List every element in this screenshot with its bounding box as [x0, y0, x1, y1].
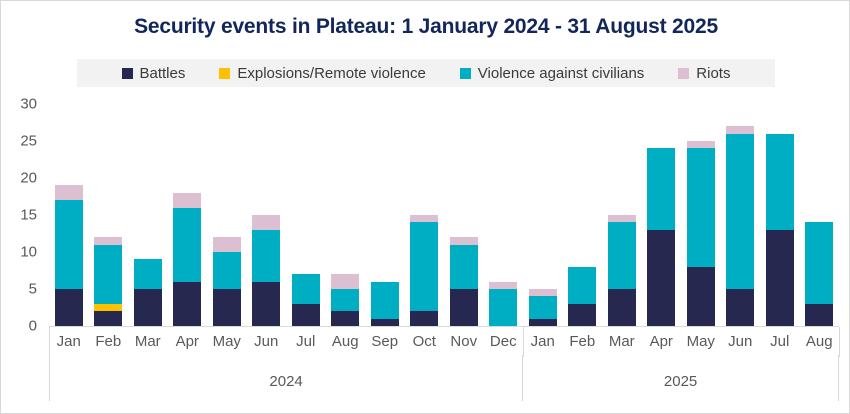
- bar-segment[interactable]: [94, 311, 122, 326]
- bar-segment[interactable]: [55, 200, 83, 289]
- bar-segment[interactable]: [608, 222, 636, 289]
- legend-item[interactable]: Riots: [678, 65, 730, 82]
- bar-segment[interactable]: [529, 289, 557, 296]
- bar-segment[interactable]: [331, 274, 359, 289]
- bar-segment[interactable]: [55, 289, 83, 326]
- bar-slot: [49, 104, 89, 326]
- legend-swatch-explosions: [219, 68, 230, 79]
- bar-segment[interactable]: [647, 148, 675, 229]
- bar-segment[interactable]: [331, 289, 359, 311]
- bar-segment[interactable]: [173, 282, 201, 326]
- x-axis-group-labels: 20242025: [49, 355, 839, 401]
- y-axis-tick-label: 10: [20, 244, 37, 261]
- bar-segment[interactable]: [726, 126, 754, 133]
- bar-segment[interactable]: [450, 237, 478, 244]
- stacked-bar[interactable]: [608, 215, 636, 326]
- bar-segment[interactable]: [450, 289, 478, 326]
- plot-area: [49, 104, 839, 326]
- bar-segment[interactable]: [805, 222, 833, 303]
- bar-segment[interactable]: [410, 311, 438, 326]
- stacked-bar[interactable]: [94, 237, 122, 326]
- bar-segment[interactable]: [410, 222, 438, 311]
- bar-segment[interactable]: [371, 282, 399, 319]
- stacked-bar[interactable]: [568, 267, 596, 326]
- stacked-bar[interactable]: [726, 126, 754, 326]
- stacked-bar[interactable]: [371, 282, 399, 326]
- bar-segment[interactable]: [766, 230, 794, 326]
- bar-segment[interactable]: [252, 282, 280, 326]
- stacked-bar[interactable]: [213, 237, 241, 326]
- bar-segment[interactable]: [94, 245, 122, 304]
- bar-segment[interactable]: [766, 134, 794, 230]
- stacked-bar[interactable]: [529, 289, 557, 326]
- bar-slot: [326, 104, 366, 326]
- bar-slot: [168, 104, 208, 326]
- chart-title: Security events in Plateau: 1 January 20…: [1, 15, 850, 39]
- bar-slot: [484, 104, 524, 326]
- bar-segment[interactable]: [55, 185, 83, 200]
- stacked-bar[interactable]: [134, 259, 162, 326]
- bar-segment[interactable]: [687, 141, 715, 148]
- bar-segment[interactable]: [173, 193, 201, 208]
- group-separator-tick: [839, 327, 840, 357]
- bar-segment[interactable]: [292, 304, 320, 326]
- y-axis-tick-label: 25: [20, 133, 37, 150]
- bar-segment[interactable]: [647, 230, 675, 326]
- bar-segment[interactable]: [173, 208, 201, 282]
- bar-segment[interactable]: [410, 215, 438, 222]
- bar-segment[interactable]: [134, 259, 162, 289]
- stacked-bar[interactable]: [687, 141, 715, 326]
- bar-segment[interactable]: [805, 304, 833, 326]
- y-axis-tick-label: 30: [20, 96, 37, 113]
- y-axis-tick-label: 5: [29, 281, 37, 298]
- bar-segment[interactable]: [252, 215, 280, 230]
- stacked-bar[interactable]: [489, 282, 517, 326]
- legend-item[interactable]: Violence against civilians: [460, 65, 645, 82]
- bar-slot: [286, 104, 326, 326]
- stacked-bar[interactable]: [173, 193, 201, 326]
- y-axis-tick-label: 0: [29, 318, 37, 335]
- bar-slot: [405, 104, 445, 326]
- stacked-bar[interactable]: [647, 148, 675, 326]
- chart-container: Security events in Plateau: 1 January 20…: [0, 0, 850, 414]
- bar-segment[interactable]: [213, 252, 241, 289]
- legend-label: Battles: [140, 65, 186, 82]
- group-separator-tick: [523, 327, 524, 357]
- bar-slot: [523, 104, 563, 326]
- bar-segment[interactable]: [331, 311, 359, 326]
- legend-item[interactable]: Battles: [122, 65, 186, 82]
- bar-segment[interactable]: [371, 319, 399, 326]
- y-axis: 051015202530: [1, 104, 45, 326]
- x-axis-group-label: 2025: [522, 355, 839, 401]
- bar-slot: [721, 104, 761, 326]
- bar-segment[interactable]: [489, 289, 517, 326]
- legend-swatch-riots: [678, 68, 689, 79]
- y-axis-tick-label: 15: [20, 207, 37, 224]
- group-separator-tick: [49, 327, 50, 357]
- bar-slot: [247, 104, 287, 326]
- bar-slot: [800, 104, 840, 326]
- bar-segment[interactable]: [450, 245, 478, 289]
- legend-label: Riots: [696, 65, 730, 82]
- bar-series-container: [49, 104, 839, 326]
- bar-segment[interactable]: [213, 289, 241, 326]
- bar-segment[interactable]: [134, 289, 162, 326]
- stacked-bar[interactable]: [331, 274, 359, 326]
- stacked-bar[interactable]: [410, 215, 438, 326]
- chart-legend: BattlesExplosions/Remote violenceViolenc…: [77, 59, 775, 87]
- bar-segment[interactable]: [726, 134, 754, 289]
- bar-slot: [602, 104, 642, 326]
- bar-segment[interactable]: [94, 237, 122, 244]
- bar-segment[interactable]: [687, 148, 715, 266]
- stacked-bar[interactable]: [766, 134, 794, 326]
- legend-item[interactable]: Explosions/Remote violence: [219, 65, 425, 82]
- bar-slot: [89, 104, 129, 326]
- stacked-bar[interactable]: [55, 185, 83, 326]
- bar-segment[interactable]: [608, 289, 636, 326]
- x-axis-group-label: 2024: [49, 355, 522, 401]
- y-axis-tick-label: 20: [20, 170, 37, 187]
- bar-slot: [681, 104, 721, 326]
- bar-segment[interactable]: [489, 282, 517, 289]
- bar-slot: [642, 104, 682, 326]
- stacked-bar[interactable]: [292, 274, 320, 326]
- bar-segment[interactable]: [529, 296, 557, 318]
- stacked-bar[interactable]: [252, 215, 280, 326]
- legend-swatch-violence: [460, 68, 471, 79]
- bar-segment[interactable]: [687, 267, 715, 326]
- group-separator-ticks: [49, 327, 839, 357]
- bar-segment[interactable]: [568, 267, 596, 304]
- bar-slot: [365, 104, 405, 326]
- bar-segment[interactable]: [726, 289, 754, 326]
- bar-slot: [444, 104, 484, 326]
- legend-label: Violence against civilians: [478, 65, 645, 82]
- legend-label: Explosions/Remote violence: [237, 65, 425, 82]
- group-label-text: 2025: [664, 373, 697, 390]
- bar-slot: [563, 104, 603, 326]
- bar-segment[interactable]: [94, 304, 122, 311]
- bar-segment[interactable]: [252, 230, 280, 282]
- stacked-bar[interactable]: [805, 222, 833, 326]
- bar-slot: [128, 104, 168, 326]
- bar-segment[interactable]: [608, 215, 636, 222]
- bar-segment[interactable]: [568, 304, 596, 326]
- bar-segment[interactable]: [292, 274, 320, 304]
- stacked-bar[interactable]: [450, 237, 478, 326]
- bar-slot: [207, 104, 247, 326]
- bar-slot: [760, 104, 800, 326]
- bar-segment[interactable]: [529, 319, 557, 326]
- group-label-text: 2024: [269, 373, 302, 390]
- legend-swatch-battles: [122, 68, 133, 79]
- bar-segment[interactable]: [213, 237, 241, 252]
